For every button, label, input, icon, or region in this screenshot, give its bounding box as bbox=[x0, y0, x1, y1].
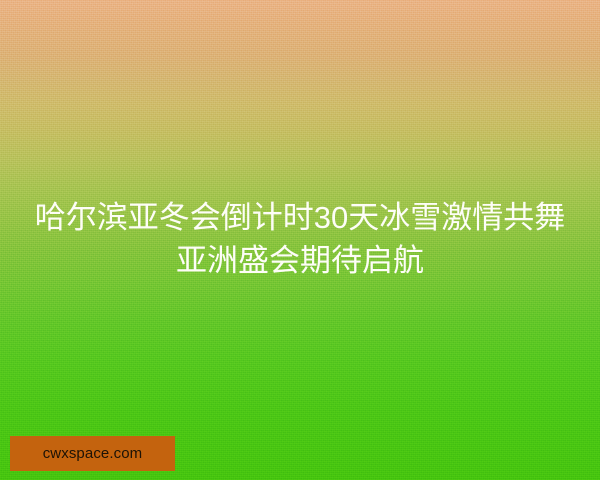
cover-headline: 哈尔滨亚冬会倒计时30天冰雪激情共舞 亚洲盛会期待启航 bbox=[0, 196, 600, 282]
watermark-badge[interactable]: cwxspace.com bbox=[10, 436, 175, 471]
article-cover-image: 哈尔滨亚冬会倒计时30天冰雪激情共舞 亚洲盛会期待启航 cwxspace.com bbox=[0, 0, 600, 480]
watermark-label: cwxspace.com bbox=[43, 446, 143, 461]
headline-line-2: 亚洲盛会期待启航 bbox=[20, 239, 580, 282]
headline-line-1: 哈尔滨亚冬会倒计时30天冰雪激情共舞 bbox=[20, 196, 580, 239]
